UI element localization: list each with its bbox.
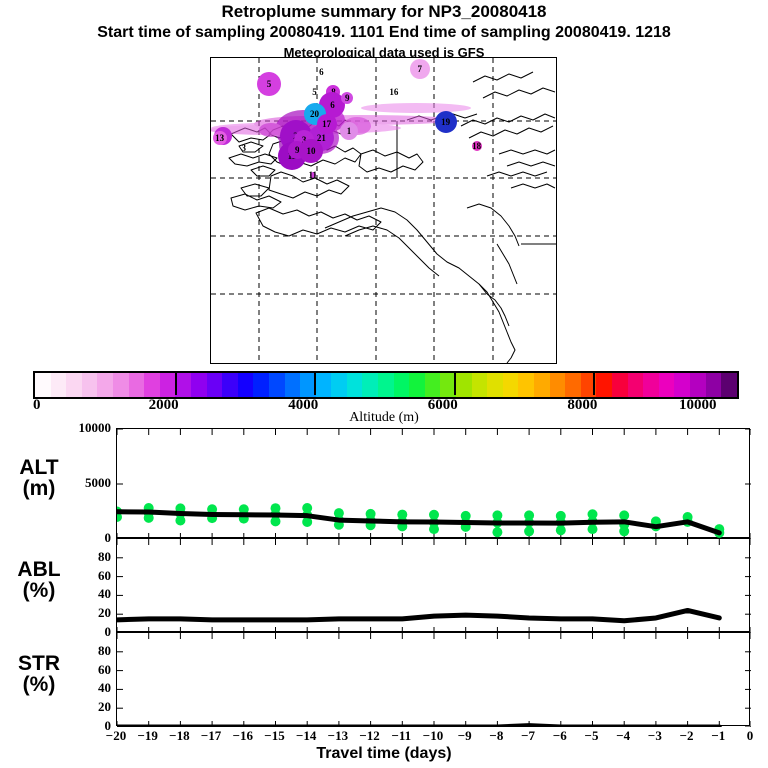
retroplume-map: 335658697162019182213129101117113	[210, 57, 557, 364]
y-tick-label: 60	[98, 568, 111, 584]
colorbar-divider	[593, 371, 595, 395]
y-tick-label: 40	[98, 586, 111, 602]
row-label-unit: (m)	[23, 477, 56, 500]
colorbar-swatch	[643, 373, 659, 397]
y-tick-label: 80	[98, 643, 111, 659]
colorbar-swatch	[66, 373, 82, 397]
colorbar-swatch	[222, 373, 238, 397]
str-trend-line	[117, 726, 719, 727]
map-day-label: 1	[347, 126, 352, 136]
map-day-label: 5	[312, 87, 317, 97]
alt-scatter-point	[492, 527, 502, 537]
x-tick-label: −14	[296, 728, 316, 744]
colorbar-swatch	[35, 373, 51, 397]
colorbar-swatch	[253, 373, 269, 397]
map-day-label: 18	[472, 141, 481, 151]
colorbar-swatch	[191, 373, 207, 397]
colorbar-swatch	[394, 373, 410, 397]
x-tick-label: −6	[553, 728, 567, 744]
colorbar-swatch	[238, 373, 254, 397]
map-day-label: 19	[441, 117, 450, 127]
x-axis-title: Travel time (days)	[0, 745, 768, 763]
x-tick-label: −4	[616, 728, 630, 744]
row-label-abl: ABL(%)	[6, 559, 72, 602]
colorbar-swatch	[721, 373, 737, 397]
x-tick-label: −7	[521, 728, 535, 744]
colorbar-swatch	[674, 373, 690, 397]
map-day-label: 10	[307, 146, 316, 156]
colorbar-swatch	[472, 373, 488, 397]
colorbar-swatch	[565, 373, 581, 397]
y-tick-label: 0	[105, 530, 112, 546]
x-tick-label: −20	[106, 728, 126, 744]
row-label-name: STR	[18, 652, 60, 675]
alt-scatter-point	[619, 526, 629, 536]
x-tick-label: −16	[233, 728, 253, 744]
y-tick-label: 20	[98, 605, 111, 621]
x-tick-label: −10	[423, 728, 443, 744]
abl-plot	[117, 539, 751, 633]
colorbar-swatch	[362, 373, 378, 397]
sampling-time-subtitle: Start time of sampling 20080419. 1101 En…	[0, 24, 768, 42]
colorbar-swatch	[51, 373, 67, 397]
colorbar-swatch	[175, 373, 191, 397]
colorbar-divider	[454, 371, 456, 395]
map-day-label: 6	[319, 67, 324, 77]
colorbar-swatch	[316, 373, 332, 397]
y-tick-label: 60	[98, 662, 111, 678]
y-tick-label: 0	[105, 624, 112, 640]
alt-scatter-point	[556, 525, 566, 535]
colorbar-swatch	[207, 373, 223, 397]
colorbar-swatch	[97, 373, 113, 397]
colorbar-swatch	[347, 373, 363, 397]
y-tick-label: 10000	[79, 420, 112, 436]
x-tick-label: −9	[458, 728, 472, 744]
alt-scatter-point	[175, 516, 185, 526]
y-tick-label: 80	[98, 549, 111, 565]
abl-trend-line	[117, 610, 719, 620]
alt-scatter-point	[271, 516, 281, 526]
colorbar-swatch	[628, 373, 644, 397]
x-tick-label: −2	[680, 728, 694, 744]
colorbar-swatch	[487, 373, 503, 397]
colorbar-swatch	[409, 373, 425, 397]
altitude-colorbar	[33, 371, 739, 399]
map-day-label: 13	[215, 133, 224, 143]
row-label-name: ALT	[19, 456, 58, 479]
colorbar-swatch	[144, 373, 160, 397]
colorbar-swatch	[82, 373, 98, 397]
colorbar-swatch	[659, 373, 675, 397]
colorbar-swatch	[550, 373, 566, 397]
colorbar-swatch	[285, 373, 301, 397]
y-tick-label: 5000	[85, 475, 111, 491]
panel-str	[116, 632, 750, 726]
map-day-label: 16	[389, 87, 398, 97]
panel-alt	[116, 428, 750, 538]
timeseries-panels	[116, 428, 750, 726]
y-tick-label: 20	[98, 699, 111, 715]
row-label-alt: ALT(m)	[6, 457, 72, 500]
x-tick-label: −5	[585, 728, 599, 744]
row-label-unit: (%)	[23, 579, 56, 602]
map-coastlines	[211, 58, 556, 363]
x-tick-label: −8	[489, 728, 503, 744]
colorbar-divider	[175, 371, 177, 395]
colorbar-swatch	[534, 373, 550, 397]
alt-scatter-point	[429, 524, 439, 534]
map-day-label: 17	[322, 119, 331, 129]
colorbar-swatch	[596, 373, 612, 397]
alt-scatter-point	[619, 510, 629, 520]
colorbar-swatch	[612, 373, 628, 397]
alt-scatter-point	[524, 526, 534, 536]
x-tick-label: −17	[201, 728, 221, 744]
colorbar-swatch	[425, 373, 441, 397]
colorbar-swatch	[518, 373, 534, 397]
x-tick-label: −1	[711, 728, 725, 744]
alt-plot	[117, 429, 751, 539]
alt-scatter-point	[588, 524, 598, 534]
colorbar-divider	[314, 371, 316, 395]
x-tick-label: −3	[648, 728, 662, 744]
x-tick-label: −13	[328, 728, 348, 744]
colorbar-swatch	[690, 373, 706, 397]
map-day-label: 9	[345, 93, 350, 103]
map-day-label: 5	[267, 79, 272, 89]
map-day-label: 11	[309, 170, 318, 180]
colorbar-swatch	[503, 373, 519, 397]
y-tick-label: 40	[98, 680, 111, 696]
x-tick-label: −11	[391, 728, 411, 744]
panel-abl	[116, 538, 750, 632]
x-tick-label: 0	[747, 728, 754, 744]
colorbar-swatch	[706, 373, 722, 397]
colorbar-swatch	[129, 373, 145, 397]
map-day-label: 6	[330, 100, 335, 110]
colorbar-title: Altitude (m)	[0, 410, 768, 426]
row-label-name: ABL	[17, 558, 60, 581]
str-plot	[117, 633, 751, 727]
page-title: Retroplume summary for NP3_20080418	[0, 2, 768, 22]
colorbar-swatch	[113, 373, 129, 397]
colorbar-swatch	[331, 373, 347, 397]
map-day-label: 7	[417, 64, 422, 74]
row-label-unit: (%)	[23, 673, 56, 696]
colorbar-swatch	[378, 373, 394, 397]
row-label-str: STR(%)	[6, 653, 72, 696]
colorbar-swatch	[160, 373, 176, 397]
map-day-label: 3	[242, 143, 247, 153]
x-tick-label: −18	[169, 728, 189, 744]
x-tick-label: −15	[264, 728, 284, 744]
x-tick-label: −19	[137, 728, 157, 744]
x-tick-label: −12	[359, 728, 379, 744]
colorbar-swatch	[456, 373, 472, 397]
colorbar-swatch	[269, 373, 285, 397]
